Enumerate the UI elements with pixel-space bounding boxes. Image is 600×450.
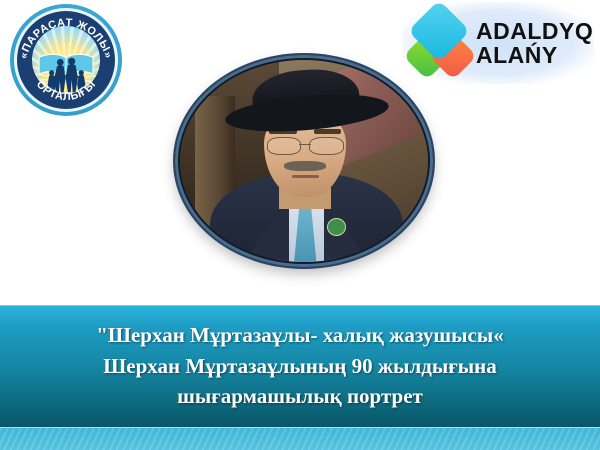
- glasses-bridge: [299, 144, 311, 145]
- glasses-lens-right: [309, 137, 343, 155]
- portrait-photo: [180, 60, 428, 262]
- family-silhouette-icon: [42, 57, 90, 92]
- title-line-2: Шерхан Мұртазаұлының 90 жылдығына: [103, 351, 497, 381]
- presentation-slide: «ПАРАСАТ ЖОЛЫ» ОРТАЛЫҒЫ ADALDYQ ALAŃY: [0, 0, 600, 450]
- portrait-mouth: [292, 175, 319, 178]
- portrait-eyebrow-right: [314, 129, 341, 134]
- portrait-glasses-icon: [267, 137, 344, 153]
- adaldyq-wordmark: ADALDYQ ALAŃY: [476, 19, 593, 67]
- adaldyq-alany-logo: ADALDYQ ALAŃY: [402, 2, 594, 84]
- adaldyq-line-2: ALAŃY: [476, 43, 593, 67]
- title-banner: "Шерхан Мұртазаұлы- халық жазушысы« Шерх…: [0, 305, 600, 427]
- glasses-lens-left: [267, 137, 301, 155]
- emblem-core: [32, 26, 100, 94]
- title-line-1: "Шерхан Мұртазаұлы- халық жазушысы«: [96, 320, 503, 350]
- portrait-moustache: [284, 161, 326, 171]
- bottom-stripe-band: [0, 427, 600, 450]
- portrait-lapel-badge: [327, 218, 346, 236]
- parasat-zholy-emblem: «ПАРАСАТ ЖОЛЫ» ОРТАЛЫҒЫ: [10, 4, 122, 116]
- title-line-3: шығармашылық портрет: [177, 381, 423, 411]
- portrait-oval-frame: [175, 55, 433, 267]
- adaldyq-line-1: ADALDYQ: [476, 19, 593, 43]
